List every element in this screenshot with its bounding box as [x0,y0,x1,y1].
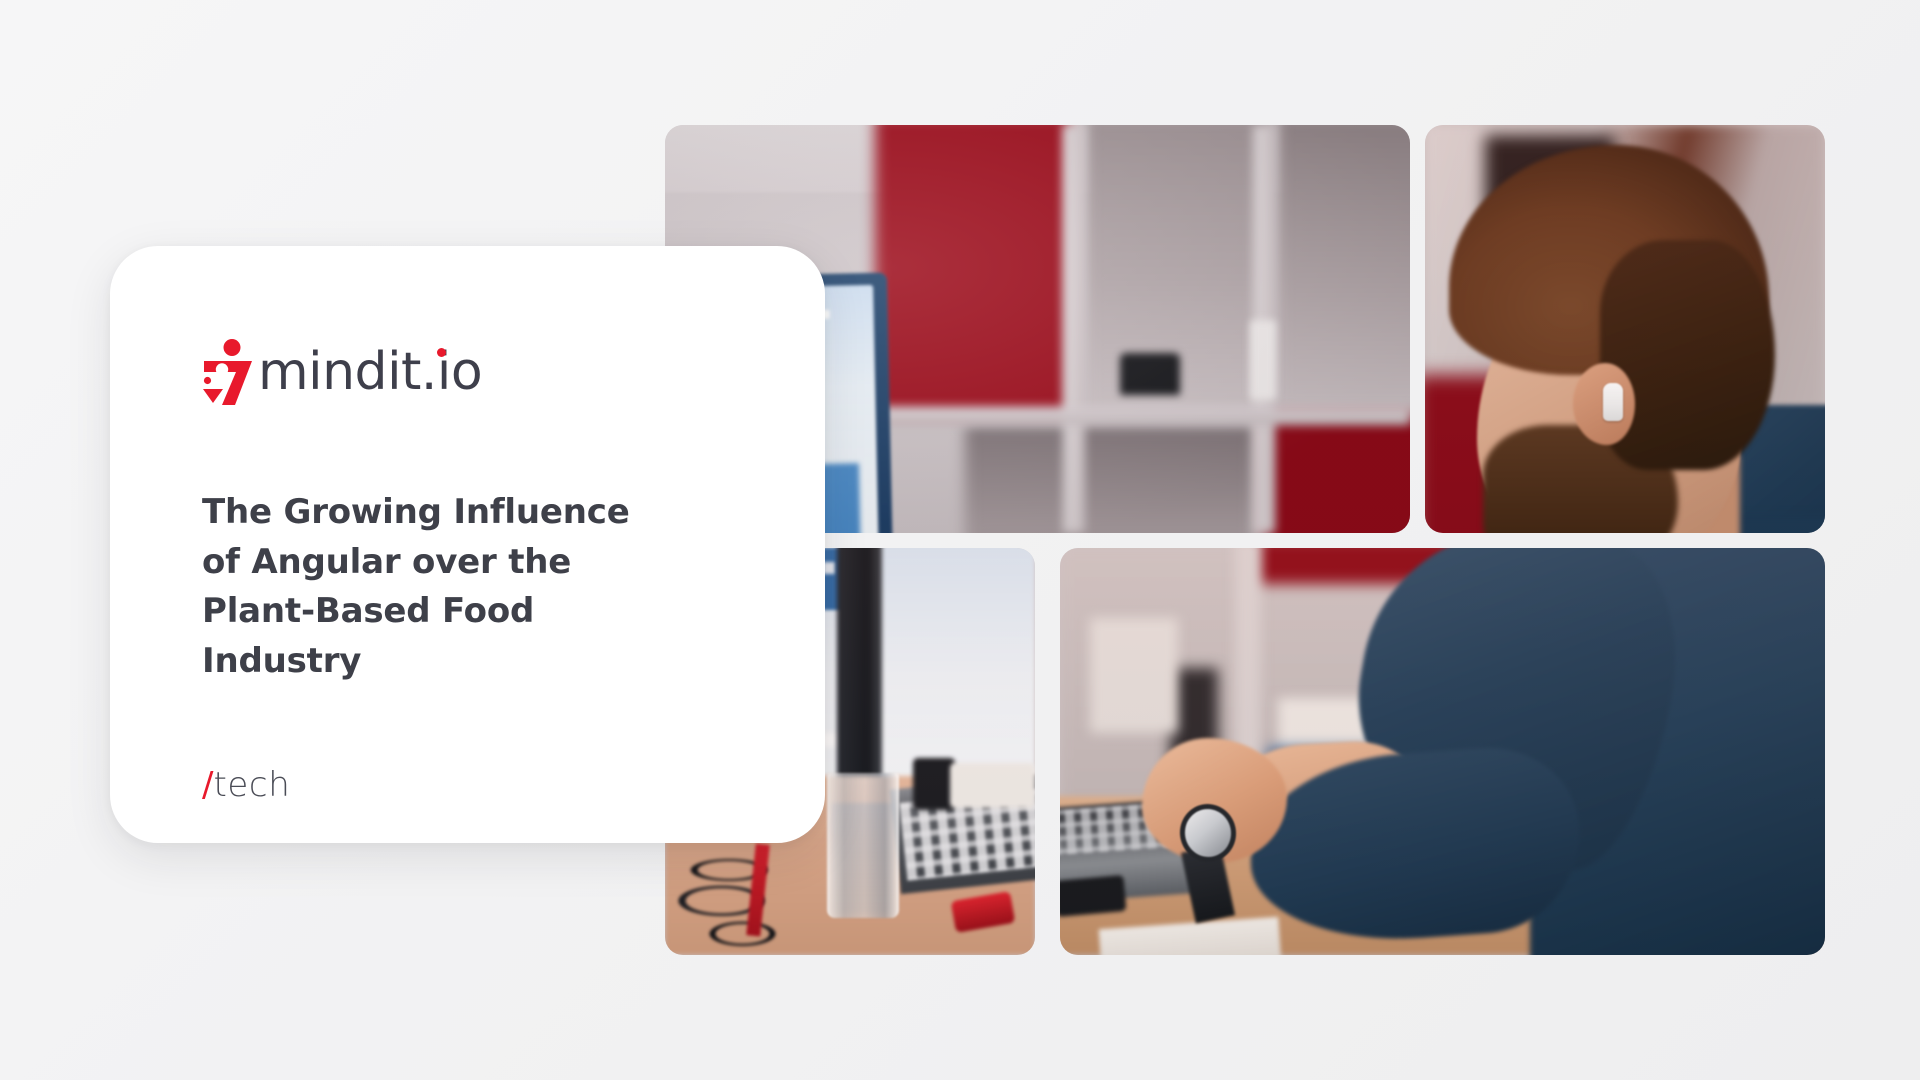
article-card: mindit.io The Growing Influence of Angul… [110,246,825,843]
article-headline: The Growing Influence of Angular over th… [202,488,632,687]
brand-wordmark: mindit.io [258,346,482,398]
mindit-logo-mark-icon [202,339,254,405]
category-name: tech [213,765,290,805]
profile-photo-overlay [1425,125,1825,533]
category-slash: / [202,765,213,805]
article-category[interactable]: /tech [202,765,825,805]
photo-grid [665,125,1825,955]
photo-hands-at-desk [1060,548,1825,955]
photo-developer-profile [1425,125,1825,533]
arms-photo-overlay [1060,548,1825,955]
brand-logo[interactable]: mindit.io [202,336,825,408]
